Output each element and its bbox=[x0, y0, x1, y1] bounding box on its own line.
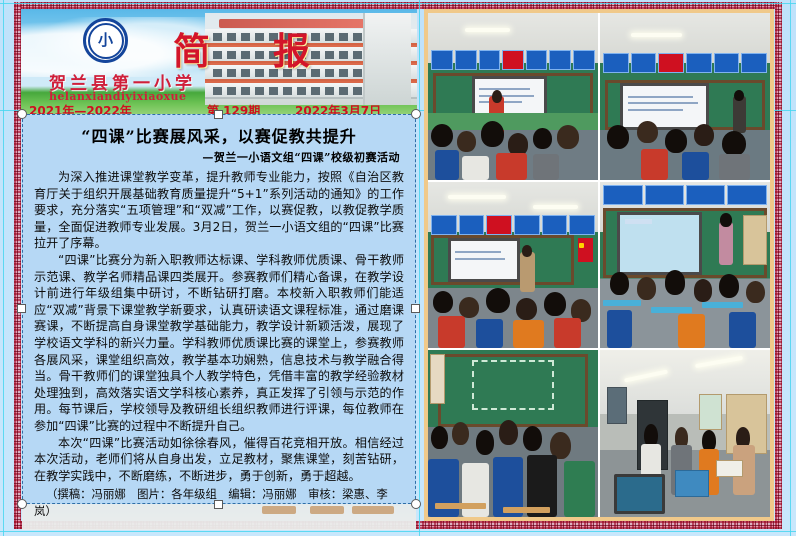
teacher-head bbox=[522, 245, 532, 257]
wall-banner bbox=[431, 215, 594, 235]
china-flag-icon bbox=[578, 238, 593, 261]
student-head bbox=[746, 281, 765, 304]
audience-area bbox=[428, 420, 598, 517]
wall-poster bbox=[430, 354, 445, 404]
student-body bbox=[462, 156, 489, 180]
banner-card-red bbox=[486, 215, 512, 235]
guide-vertical-center bbox=[419, 0, 420, 536]
ceiling-lamp bbox=[631, 33, 682, 37]
desk-folder bbox=[675, 470, 709, 497]
wall-banner bbox=[603, 185, 766, 205]
banner-card bbox=[569, 215, 595, 235]
guide-horizontal-bottom bbox=[0, 531, 796, 532]
screen-text-line bbox=[479, 95, 534, 97]
banner-card bbox=[455, 50, 477, 70]
screen-text-line bbox=[479, 88, 530, 90]
article-paragraph-2: “四课”比赛分为新入职教师达标课、学科教师优质课、骨干教师示范课、教学名师精品课… bbox=[34, 252, 404, 435]
classroom-photo-2[interactable] bbox=[600, 13, 770, 180]
student-head bbox=[476, 430, 495, 455]
article-title: “四课”比赛展风采，以赛促教共提升 bbox=[34, 123, 404, 147]
student-area bbox=[428, 110, 598, 180]
student-head bbox=[459, 297, 479, 318]
classroom-photo-4[interactable] bbox=[600, 182, 770, 349]
student-head bbox=[607, 125, 629, 149]
photo-grid bbox=[428, 13, 770, 517]
student-desk bbox=[702, 302, 743, 308]
banner-card bbox=[714, 53, 740, 73]
banner-card bbox=[686, 53, 712, 73]
student-body bbox=[513, 320, 544, 348]
chalk-mindmap bbox=[472, 360, 554, 410]
banner-card bbox=[431, 50, 453, 70]
crest-glyph: 小 bbox=[98, 33, 113, 48]
student-desk bbox=[603, 300, 640, 306]
school-building-photo bbox=[205, 13, 417, 105]
ceiling-lamp bbox=[533, 205, 577, 209]
photo-grid-frame[interactable] bbox=[424, 9, 774, 521]
banner-card-red bbox=[502, 50, 524, 70]
student-area bbox=[600, 110, 770, 180]
building-tower bbox=[363, 13, 411, 105]
banner-card bbox=[573, 50, 595, 70]
banner-card bbox=[549, 50, 571, 70]
student-head bbox=[486, 288, 510, 313]
banner-card bbox=[514, 215, 540, 235]
student-body bbox=[607, 310, 633, 348]
student-body bbox=[554, 318, 581, 349]
page-border-right bbox=[775, 2, 782, 529]
student-body bbox=[641, 149, 668, 180]
bulletin-board bbox=[699, 394, 723, 431]
masthead-banner: 小 简 报 贺兰县第一小学 helanxiandiyixiaoxue 2021年… bbox=[21, 9, 417, 116]
selection-handle-bottom-left[interactable] bbox=[17, 499, 27, 509]
student-desk bbox=[651, 307, 692, 313]
student-desk bbox=[503, 507, 551, 513]
selection-handle-top-center[interactable] bbox=[214, 110, 223, 119]
student-body bbox=[438, 316, 465, 348]
building-windows bbox=[213, 33, 222, 41]
student-body bbox=[678, 314, 705, 349]
article-paragraph-1: 为深入推进课堂教学变革，提升教师专业能力，按照《自治区教育厅关于组织开展基础教育… bbox=[34, 169, 404, 252]
student-body bbox=[496, 153, 527, 180]
student-head bbox=[719, 274, 739, 298]
ceiling-lamp bbox=[465, 28, 509, 32]
student-body bbox=[719, 154, 750, 179]
masthead-title-char-1: 简 bbox=[173, 21, 210, 75]
student-head bbox=[481, 121, 505, 148]
student-head bbox=[722, 131, 746, 156]
observer-body bbox=[564, 461, 595, 517]
banner-card bbox=[479, 50, 501, 70]
article-paragraph-3: 本次“四课”比赛活动如徐徐春风，催得百花竞相开放。相信经过本次活动，老师们将从自… bbox=[34, 435, 404, 485]
screen-text-line bbox=[628, 96, 692, 98]
student-desk bbox=[435, 503, 486, 509]
student-head bbox=[433, 291, 453, 313]
banner-card bbox=[631, 53, 657, 73]
screen-text-line bbox=[628, 102, 697, 104]
student-head bbox=[694, 279, 713, 302]
building-windows bbox=[213, 87, 222, 95]
student-body bbox=[435, 150, 459, 179]
teacher-figure bbox=[719, 222, 733, 265]
banner-card bbox=[431, 215, 457, 235]
student-head bbox=[694, 124, 714, 146]
observer-head bbox=[431, 426, 448, 449]
classroom-photo-1[interactable] bbox=[428, 13, 598, 180]
ceiling-lamp bbox=[448, 195, 506, 199]
projection-screen bbox=[448, 238, 519, 281]
flag-star bbox=[579, 243, 584, 248]
observer-head bbox=[499, 420, 518, 445]
selection-handle-top-right[interactable] bbox=[411, 109, 421, 119]
article-textbox[interactable]: “四课”比赛展风采，以赛促教共提升 —贺兰一小语文组“四课”校级初赛活动 为深入… bbox=[22, 114, 416, 504]
student-head bbox=[637, 121, 657, 143]
crest-inner-ring: 小 bbox=[88, 23, 124, 59]
observer-head bbox=[452, 422, 469, 445]
selection-handle-middle-right[interactable] bbox=[411, 304, 420, 313]
banner-card bbox=[727, 185, 766, 205]
student-head bbox=[533, 128, 552, 149]
student-body bbox=[533, 154, 559, 179]
banner-card bbox=[459, 215, 485, 235]
school-crest-icon: 小 bbox=[83, 18, 128, 63]
computer-monitor bbox=[614, 474, 665, 514]
document-canvas: 小 简 报 贺兰县第一小学 helanxiandiyixiaoxue 2021年… bbox=[0, 0, 796, 536]
student-body bbox=[682, 152, 709, 180]
classroom-photo-3[interactable] bbox=[428, 182, 598, 349]
selection-handle-bottom-right[interactable] bbox=[411, 499, 421, 509]
selection-handle-bottom-center[interactable] bbox=[214, 500, 223, 509]
student-head bbox=[665, 270, 685, 294]
student-head bbox=[610, 272, 629, 295]
student-body bbox=[729, 312, 756, 348]
left-column: 小 简 报 贺兰县第一小学 helanxiandiyixiaoxue 2021年… bbox=[21, 9, 417, 521]
office-photo-6[interactable] bbox=[600, 350, 770, 517]
article-subtitle: —贺兰一小语文组“四课”校级初赛活动 bbox=[34, 149, 400, 165]
student-head bbox=[557, 125, 579, 149]
student-head bbox=[544, 292, 566, 316]
wall-banner bbox=[431, 50, 594, 70]
student-body bbox=[476, 319, 503, 348]
banner-card bbox=[603, 185, 642, 205]
wall-cabinet bbox=[743, 215, 767, 265]
guide-horizontal-top bbox=[0, 3, 796, 4]
banner-card bbox=[603, 53, 629, 73]
selection-handle-middle-left[interactable] bbox=[17, 304, 26, 313]
banner-card bbox=[542, 215, 568, 235]
window-frame bbox=[607, 387, 627, 424]
teacher-head bbox=[720, 213, 732, 226]
banner-card bbox=[526, 50, 548, 70]
student-head bbox=[457, 131, 476, 152]
wall-banner bbox=[603, 53, 766, 73]
student-area bbox=[600, 262, 770, 349]
student-head bbox=[637, 277, 656, 300]
student-head bbox=[516, 298, 536, 320]
slide-title-bar bbox=[625, 219, 652, 224]
teacher-head bbox=[492, 90, 502, 103]
banner-card bbox=[741, 53, 767, 73]
selection-handle-top-left[interactable] bbox=[17, 109, 27, 119]
student-area bbox=[428, 278, 598, 348]
guide-vertical-left bbox=[3, 0, 4, 536]
building-windows bbox=[213, 69, 222, 77]
student-head bbox=[665, 129, 687, 153]
banner-card bbox=[645, 185, 684, 205]
guide-vertical-right bbox=[790, 0, 791, 536]
masthead-title-char-2: 报 bbox=[273, 21, 310, 75]
observer-head bbox=[523, 426, 542, 451]
screen-text-line bbox=[455, 258, 505, 260]
student-head bbox=[431, 124, 453, 148]
page-border-left bbox=[14, 2, 21, 529]
banner-card-red bbox=[658, 53, 684, 73]
screen-text-line bbox=[455, 251, 501, 253]
building-windows bbox=[213, 51, 222, 59]
banner-card bbox=[686, 185, 725, 205]
paper-stack bbox=[716, 460, 743, 477]
classroom-photo-5[interactable] bbox=[428, 350, 598, 517]
